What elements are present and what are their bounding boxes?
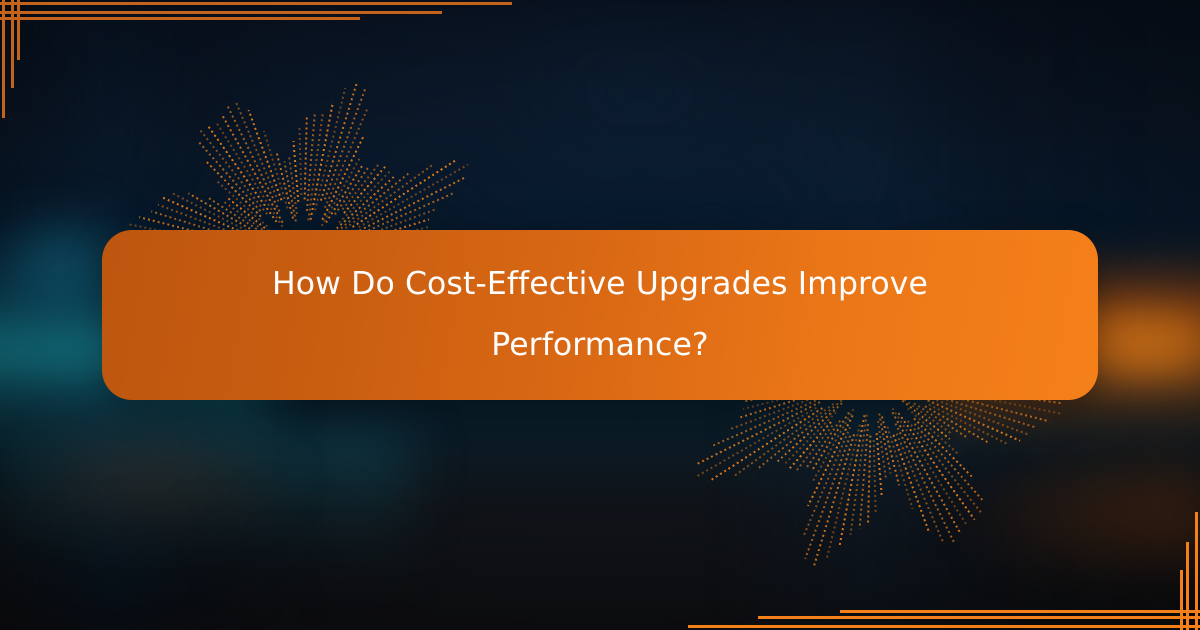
corner-line-horizontal-1 xyxy=(758,616,1200,619)
corner-bracket-top-left xyxy=(0,0,520,130)
page-title: How Do Cost-Effective Upgrades Improve P… xyxy=(220,254,980,377)
corner-line-horizontal-0 xyxy=(0,2,512,5)
corner-line-horizontal-2 xyxy=(840,610,1200,613)
corner-bracket-bottom-right xyxy=(680,500,1200,630)
corner-line-vertical-1 xyxy=(11,0,14,88)
corner-line-vertical-2 xyxy=(17,0,20,60)
corner-line-horizontal-0 xyxy=(688,625,1200,628)
corner-line-horizontal-1 xyxy=(0,11,442,14)
corner-line-vertical-2 xyxy=(1180,570,1183,630)
banner-image: How Do Cost-Effective Upgrades Improve P… xyxy=(0,0,1200,630)
headline-card: How Do Cost-Effective Upgrades Improve P… xyxy=(102,230,1098,400)
corner-line-vertical-0 xyxy=(2,0,5,118)
corner-line-vertical-0 xyxy=(1195,512,1198,630)
corner-line-vertical-1 xyxy=(1186,542,1189,630)
corner-line-horizontal-2 xyxy=(0,17,360,20)
